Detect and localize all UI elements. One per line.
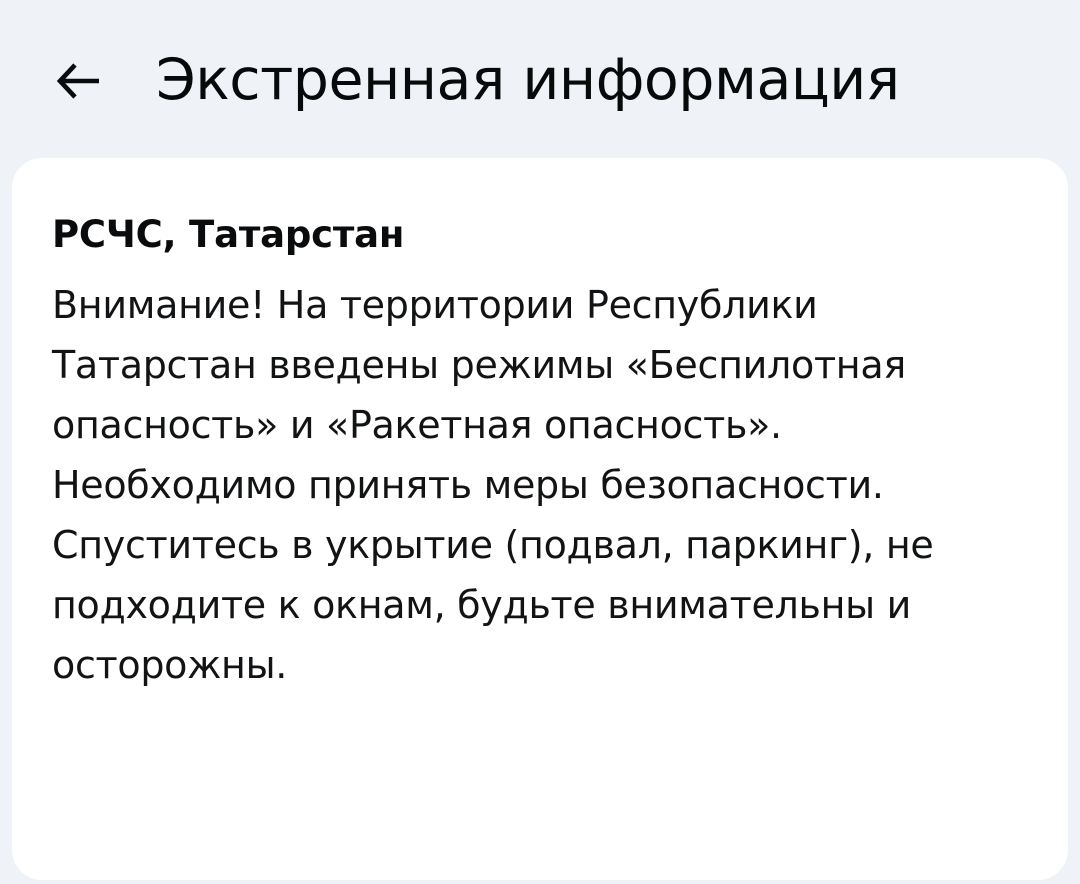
page-title: Экстренная информация [156,52,900,109]
emergency-alert-card: РСЧС, Татарстан Внимание! На территории … [12,158,1068,880]
alert-message: Внимание! На территории Республики Татар… [52,275,1012,695]
app-header: Экстренная информация [0,0,1080,158]
arrow-left-icon [49,51,109,111]
back-button[interactable] [46,48,112,114]
alert-source: РСЧС, Татарстан [52,214,1016,257]
